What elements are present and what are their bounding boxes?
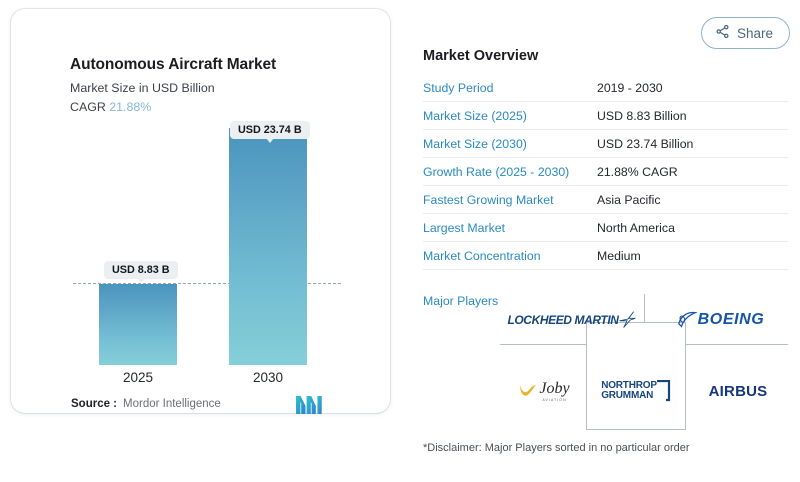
major-players-logo-grid: LOCKHEED MARTIN BOEING Joby AVIATION xyxy=(500,294,788,434)
table-row: Study Period 2019 - 2030 xyxy=(423,74,788,102)
row-key: Market Size (2030) xyxy=(423,130,597,158)
northrop-grumman-logo: NORTHROP GRUMMAN xyxy=(588,372,684,410)
bar-2030[interactable] xyxy=(229,128,307,365)
x-axis-tick-2030: 2030 xyxy=(229,370,307,385)
share-button-label: Share xyxy=(737,26,773,41)
northrop-grumman-line2: GRUMMAN xyxy=(601,391,657,401)
row-key: Growth Rate (2025 - 2030) xyxy=(423,158,597,186)
mordor-intelligence-logo xyxy=(296,395,322,420)
bar-label-2030: USD 23.74 B xyxy=(230,121,310,139)
table-row: Growth Rate (2025 - 2030) 21.88% CAGR xyxy=(423,158,788,186)
major-players-label: Major Players xyxy=(423,294,498,308)
table-row: Market Size (2025) USD 8.83 Billion xyxy=(423,102,788,130)
table-row: Market Size (2030) USD 23.74 Billion xyxy=(423,130,788,158)
market-overview-panel: Market Overview Study Period 2019 - 2030… xyxy=(423,48,788,270)
bar-label-2025: USD 8.83 B xyxy=(104,261,178,279)
row-value: USD 8.83 Billion xyxy=(597,102,788,130)
row-value: Medium xyxy=(597,242,788,270)
table-row: Market Concentration Medium xyxy=(423,242,788,270)
bar-chart-plot: USD 8.83 B USD 23.74 B 2025 2030 xyxy=(11,9,390,413)
row-key: Market Size (2025) xyxy=(423,102,597,130)
joby-logo-text: Joby xyxy=(539,380,569,398)
boeing-logo-text: BOEING xyxy=(698,311,765,329)
overview-table: Study Period 2019 - 2030 Market Size (20… xyxy=(423,74,788,270)
table-row: Largest Market North America xyxy=(423,214,788,242)
source-label: Source : xyxy=(71,398,117,410)
source-row: Source : Mordor Intelligence xyxy=(71,398,371,410)
overview-title: Market Overview xyxy=(423,48,788,64)
row-value: USD 23.74 Billion xyxy=(597,130,788,158)
share-icon xyxy=(715,24,730,42)
overview-table-body: Study Period 2019 - 2030 Market Size (20… xyxy=(423,74,788,270)
row-key: Fastest Growing Market xyxy=(423,186,597,214)
row-value: Asia Pacific xyxy=(597,186,788,214)
row-key: Largest Market xyxy=(423,214,597,242)
market-snapshot-page: Share Autonomous Aircraft Market Market … xyxy=(0,0,800,482)
northrop-bracket-icon xyxy=(657,380,671,402)
boeing-logo: BOEING xyxy=(652,302,788,338)
table-row: Fastest Growing Market Asia Pacific xyxy=(423,186,788,214)
joby-logo-subtext: AVIATION xyxy=(542,398,566,402)
players-disclaimer: *Disclaimer: Major Players sorted in no … xyxy=(423,442,690,454)
lockheed-star-icon xyxy=(617,310,637,330)
joby-aviation-logo: Joby AVIATION xyxy=(502,372,586,410)
airbus-logo: AIRBUS xyxy=(688,372,788,410)
row-key: Market Concentration xyxy=(423,242,597,270)
row-value: 21.88% CAGR xyxy=(597,158,788,186)
chart-card: Autonomous Aircraft Market Market Size i… xyxy=(11,9,390,413)
airbus-logo-text: AIRBUS xyxy=(709,383,768,400)
boeing-swoosh-icon xyxy=(676,308,698,332)
row-value: North America xyxy=(597,214,788,242)
lockheed-martin-logo-text: LOCKHEED MARTIN xyxy=(507,313,618,327)
x-axis-tick-2025: 2025 xyxy=(99,370,177,385)
joby-wing-icon xyxy=(518,383,538,399)
lockheed-martin-logo: LOCKHEED MARTIN xyxy=(502,302,642,338)
row-value: 2019 - 2030 xyxy=(597,74,788,102)
share-button[interactable]: Share xyxy=(701,17,790,49)
row-key: Study Period xyxy=(423,74,597,102)
bar-2025[interactable] xyxy=(99,284,177,365)
source-value: Mordor Intelligence xyxy=(123,398,221,410)
